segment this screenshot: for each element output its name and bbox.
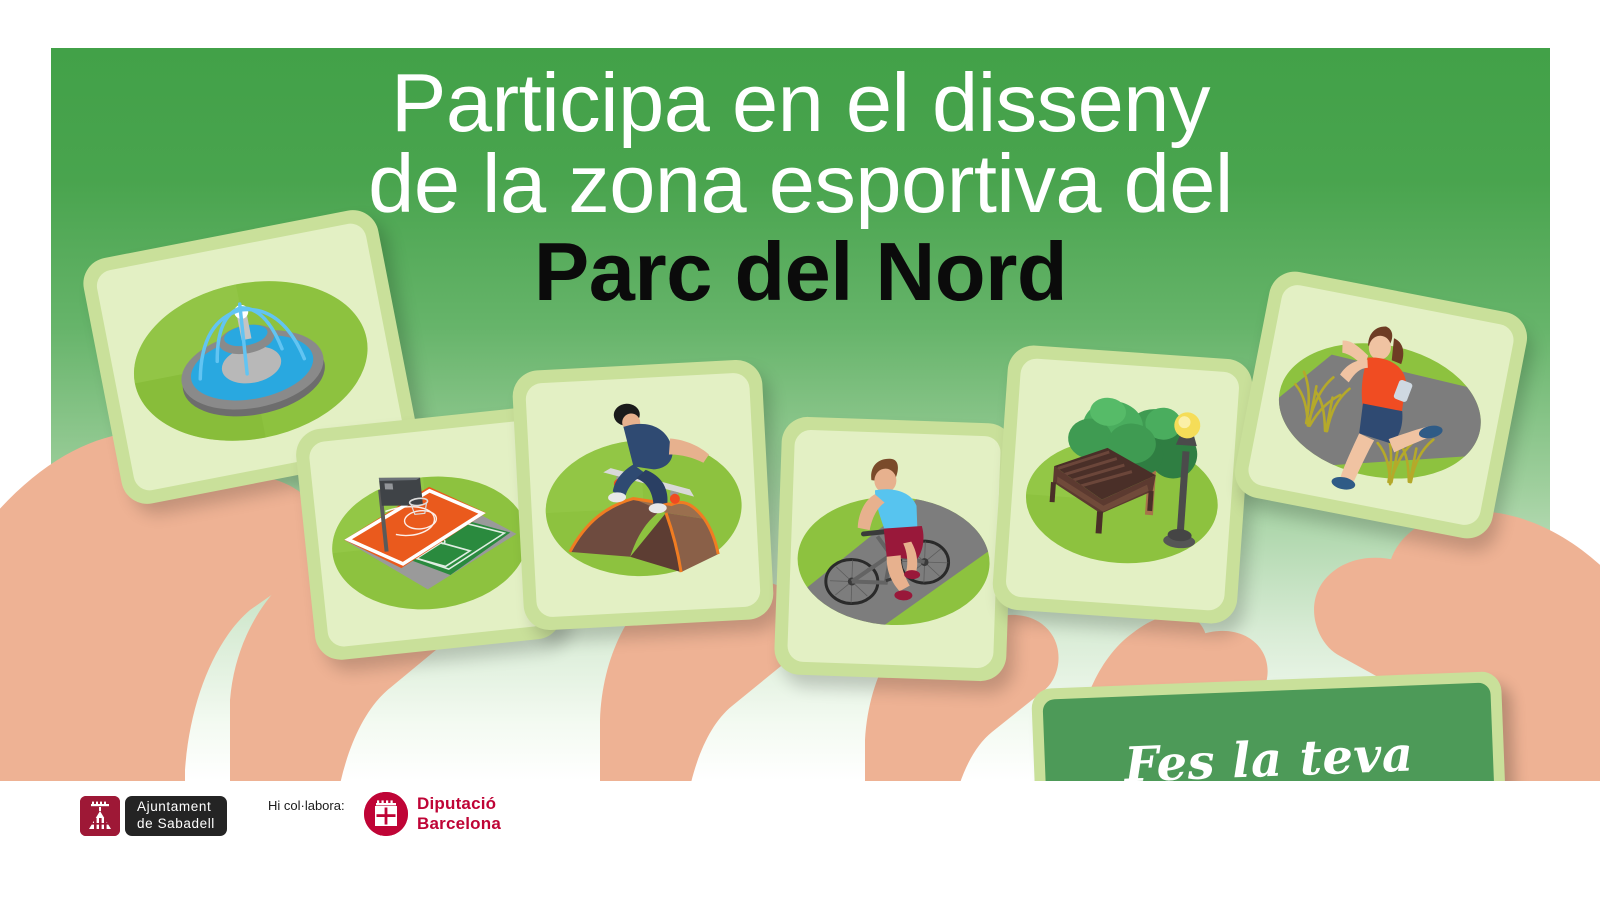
collaborates-label: Hi col·labora: xyxy=(268,798,345,813)
logo-diputacio-barcelona[interactable]: Diputació Barcelona xyxy=(364,792,501,836)
footer-bar xyxy=(0,781,1600,900)
logo-ajuntament-sabadell[interactable]: Ajuntament de Sabadell xyxy=(80,796,227,836)
diputacio-wordmark: Diputació Barcelona xyxy=(417,794,501,835)
diputacio-line-2: Barcelona xyxy=(417,814,501,834)
card-running-track[interactable] xyxy=(1230,267,1531,543)
card-bike-lane-face xyxy=(787,429,1001,668)
runner-icon xyxy=(1246,282,1517,527)
sports-court-icon xyxy=(308,420,550,648)
park-bench-icon xyxy=(1005,358,1240,612)
card-skatepark-face xyxy=(525,372,761,617)
cyclist-icon xyxy=(787,429,1001,668)
card-rest-area-face xyxy=(1005,358,1240,612)
sabadell-crest-icon xyxy=(80,796,120,836)
card-rest-area[interactable] xyxy=(991,344,1254,625)
diputacio-line-1: Diputació xyxy=(417,794,501,814)
card-skatepark[interactable] xyxy=(511,359,774,632)
poster-canvas: Participa en el disseny de la zona espor… xyxy=(0,0,1600,900)
card-sports-court-face xyxy=(308,420,550,648)
skateboarder-icon xyxy=(525,372,761,617)
diputacio-crest-icon xyxy=(364,792,408,836)
sabadell-wordmark: Ajuntament de Sabadell xyxy=(125,796,227,836)
card-bike-lane[interactable] xyxy=(774,416,1015,682)
card-running-track-face xyxy=(1246,282,1517,527)
sabadell-line-1: Ajuntament xyxy=(137,799,215,816)
sabadell-line-2: de Sabadell xyxy=(137,816,215,833)
